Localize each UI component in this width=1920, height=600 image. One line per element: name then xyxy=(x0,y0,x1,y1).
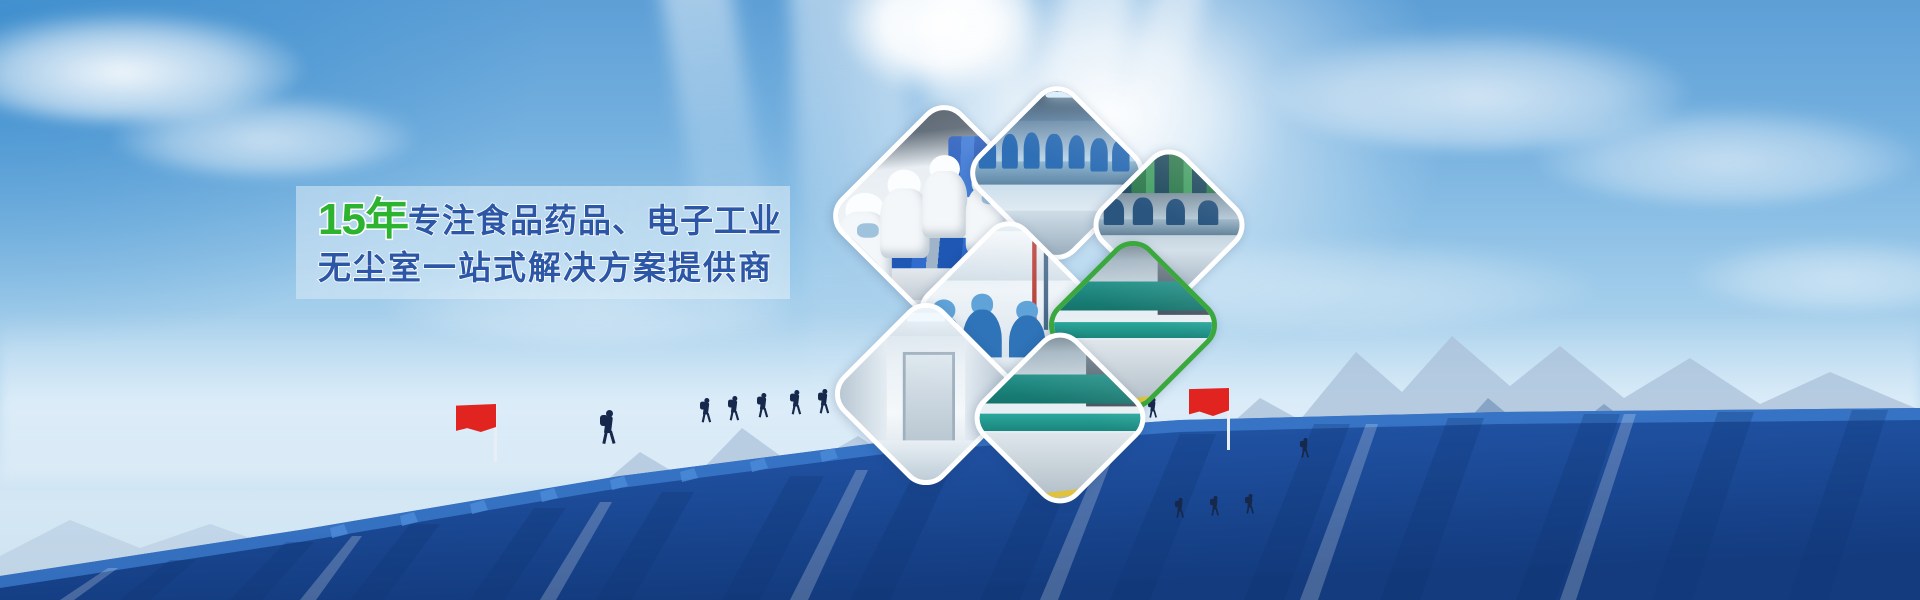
years-highlight: 15年 xyxy=(318,195,408,244)
headline-line1-rest: 专注食品药品、电子工业 xyxy=(408,202,782,239)
hero-banner: 15年专注食品药品、电子工业 无尘室一站式解决方案提供商 xyxy=(0,0,1920,600)
diamond-photo-collage xyxy=(840,92,1272,462)
headline-text: 15年专注食品药品、电子工业 无尘室一站式解决方案提供商 xyxy=(318,196,788,292)
headline-line2: 无尘室一站式解决方案提供商 xyxy=(318,249,773,286)
flag-cloth xyxy=(456,404,496,432)
